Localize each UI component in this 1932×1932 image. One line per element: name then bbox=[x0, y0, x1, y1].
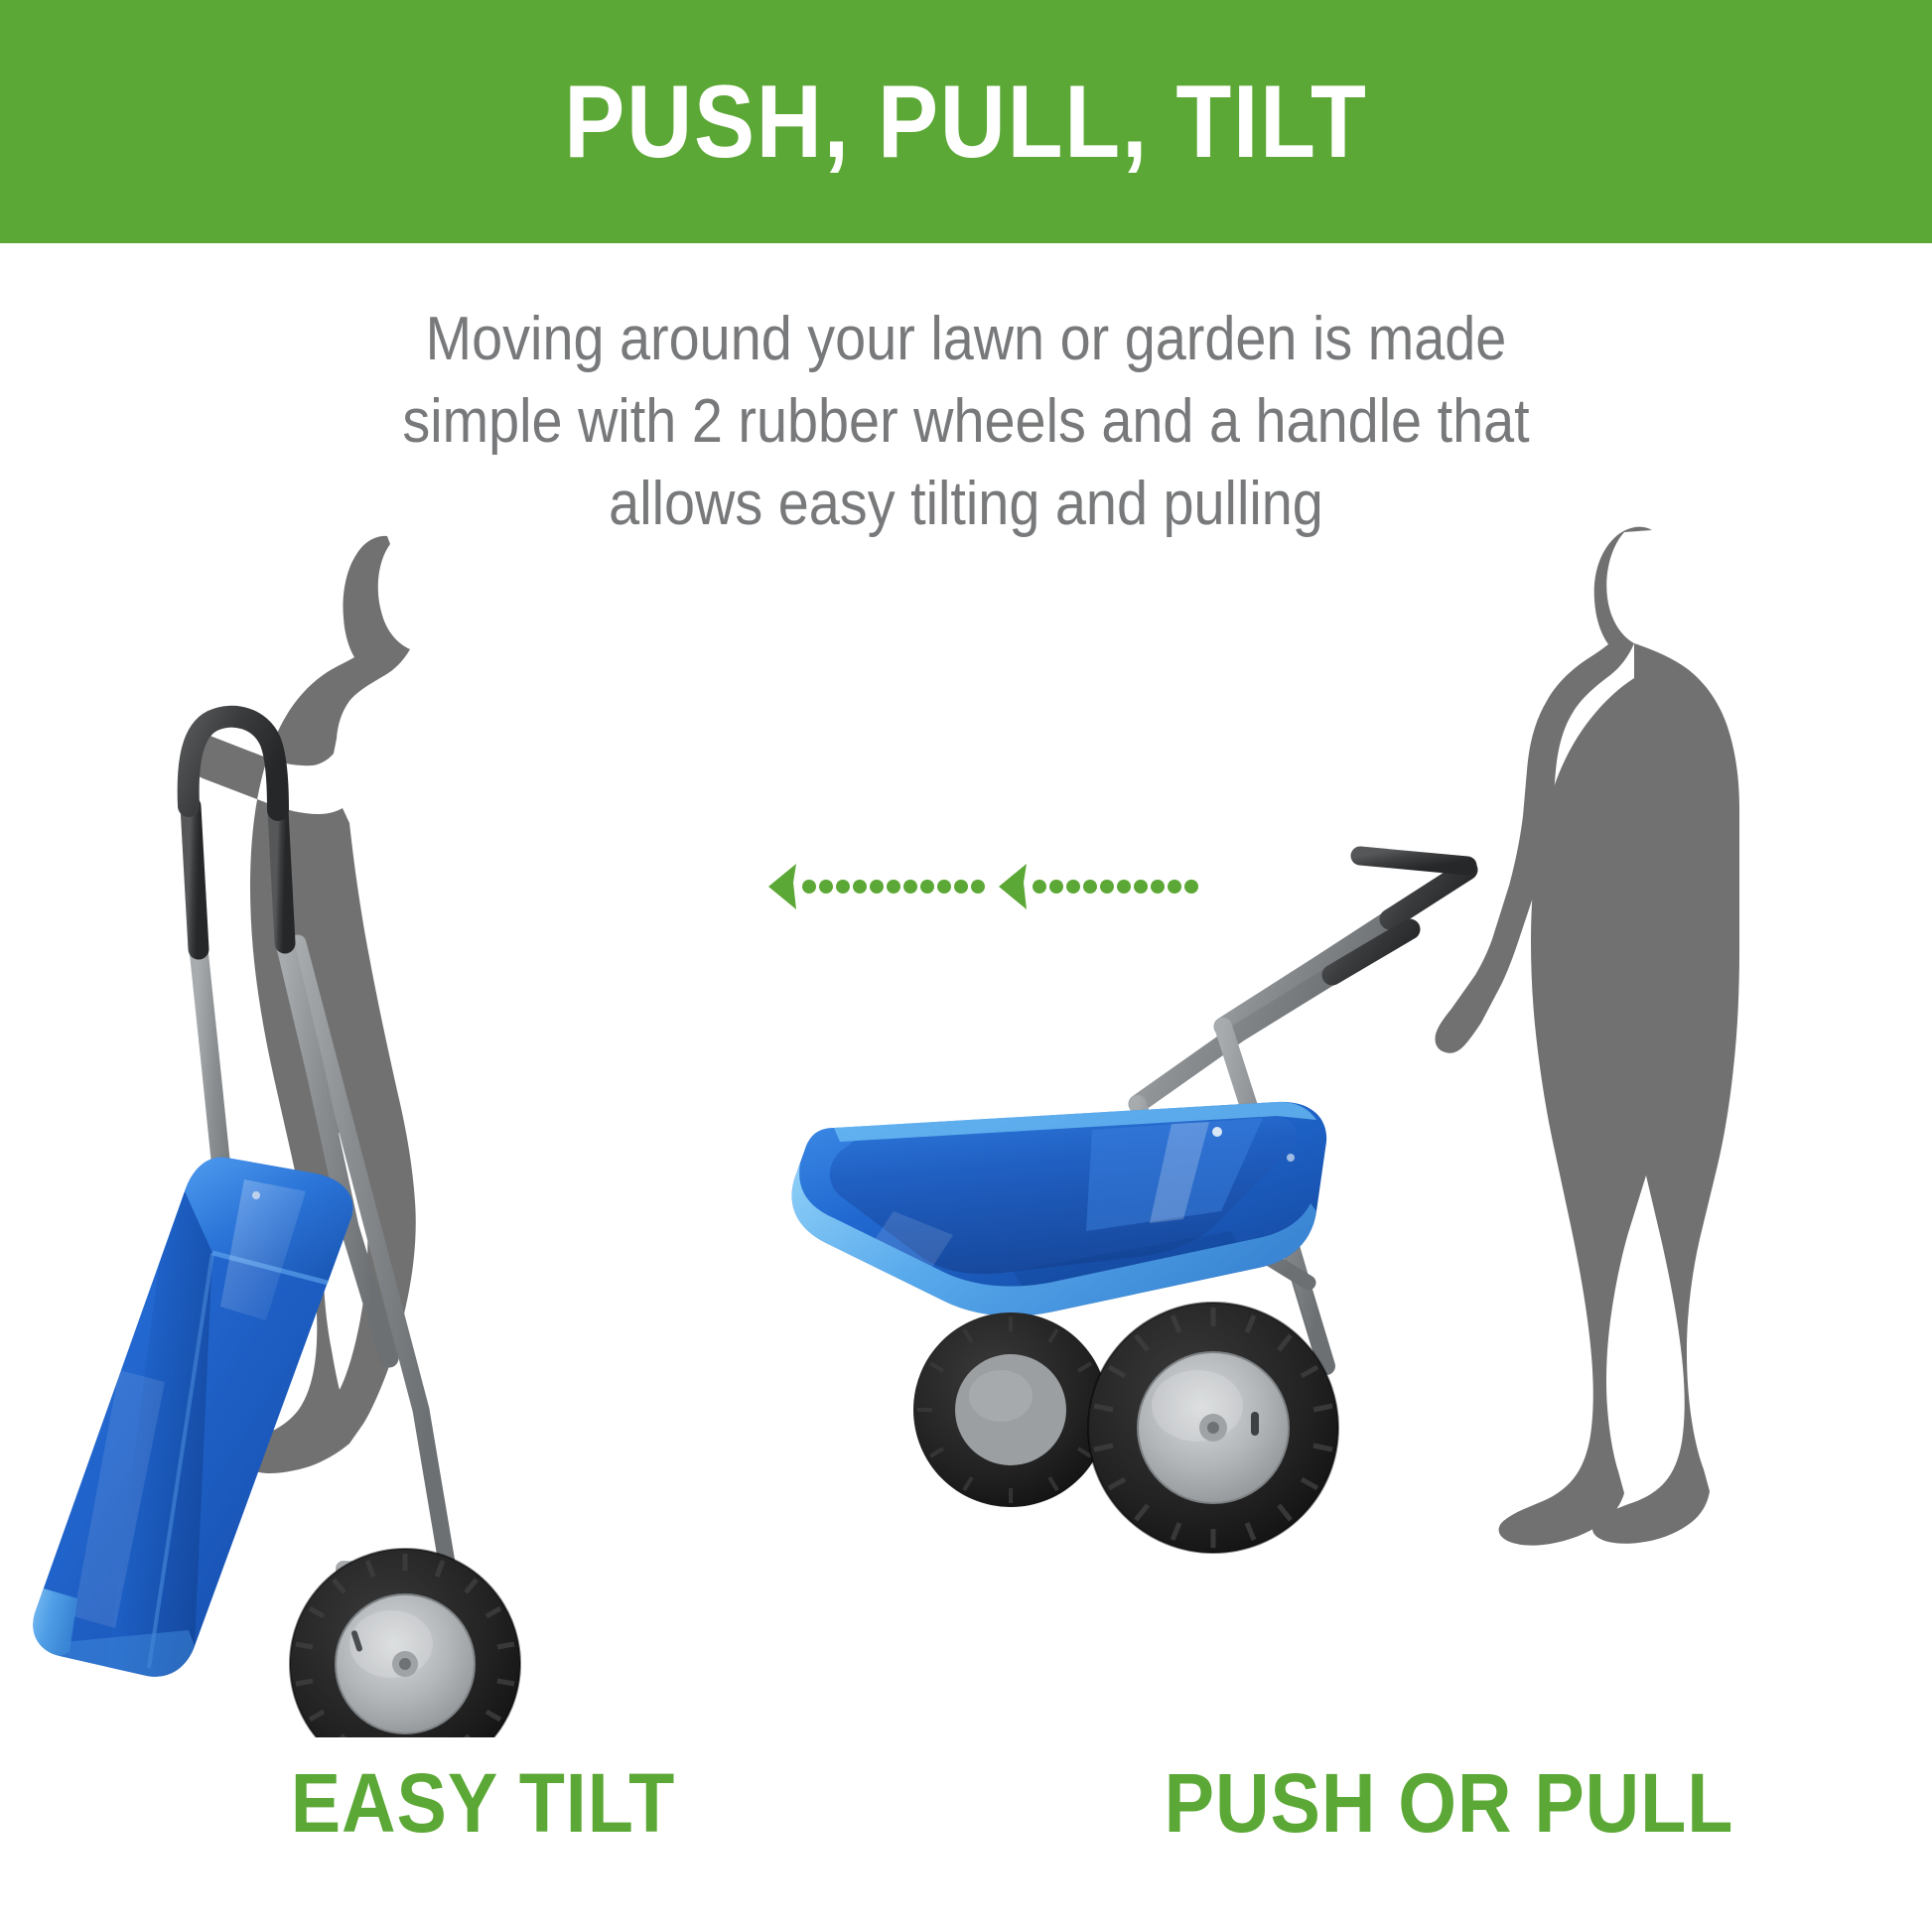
wheelbarrow-tub-upright bbox=[792, 1102, 1327, 1316]
handle-tube-upper-right bbox=[1223, 919, 1390, 1027]
grip-right bbox=[1390, 870, 1467, 919]
caption-easy-tilt: EASY TILT bbox=[49, 1755, 918, 1852]
grip-crossbar bbox=[1360, 856, 1467, 866]
wheelbarrow-upright bbox=[792, 856, 1467, 1553]
right-panel-group bbox=[792, 527, 1739, 1553]
wheelbarrow-tilted bbox=[33, 717, 520, 1737]
caption-push-or-pull: PUSH OR PULL bbox=[1015, 1755, 1884, 1852]
grip-sleeve-left bbox=[191, 806, 199, 949]
subtitle-text: Moving around your lawn or garden is mad… bbox=[400, 298, 1531, 545]
wheel-front-right-panel bbox=[1088, 1303, 1338, 1553]
wheel-front-left-panel bbox=[290, 1549, 520, 1737]
arrowhead-icon-1 bbox=[768, 864, 796, 909]
grip-sleeve-right bbox=[278, 810, 285, 943]
arrowhead-icon-2 bbox=[999, 864, 1027, 909]
illustration-area bbox=[0, 516, 1932, 1737]
dotted-left-arrow bbox=[764, 852, 1211, 921]
left-panel-group bbox=[33, 536, 520, 1737]
silhouette-person-pulling bbox=[1435, 527, 1739, 1546]
infographic-page: PUSH, PULL, TILT Moving around your lawn… bbox=[0, 0, 1932, 1932]
header-banner: PUSH, PULL, TILT bbox=[0, 0, 1932, 243]
page-title: PUSH, PULL, TILT bbox=[116, 0, 1816, 243]
wheel-rear-right-panel bbox=[913, 1312, 1108, 1507]
